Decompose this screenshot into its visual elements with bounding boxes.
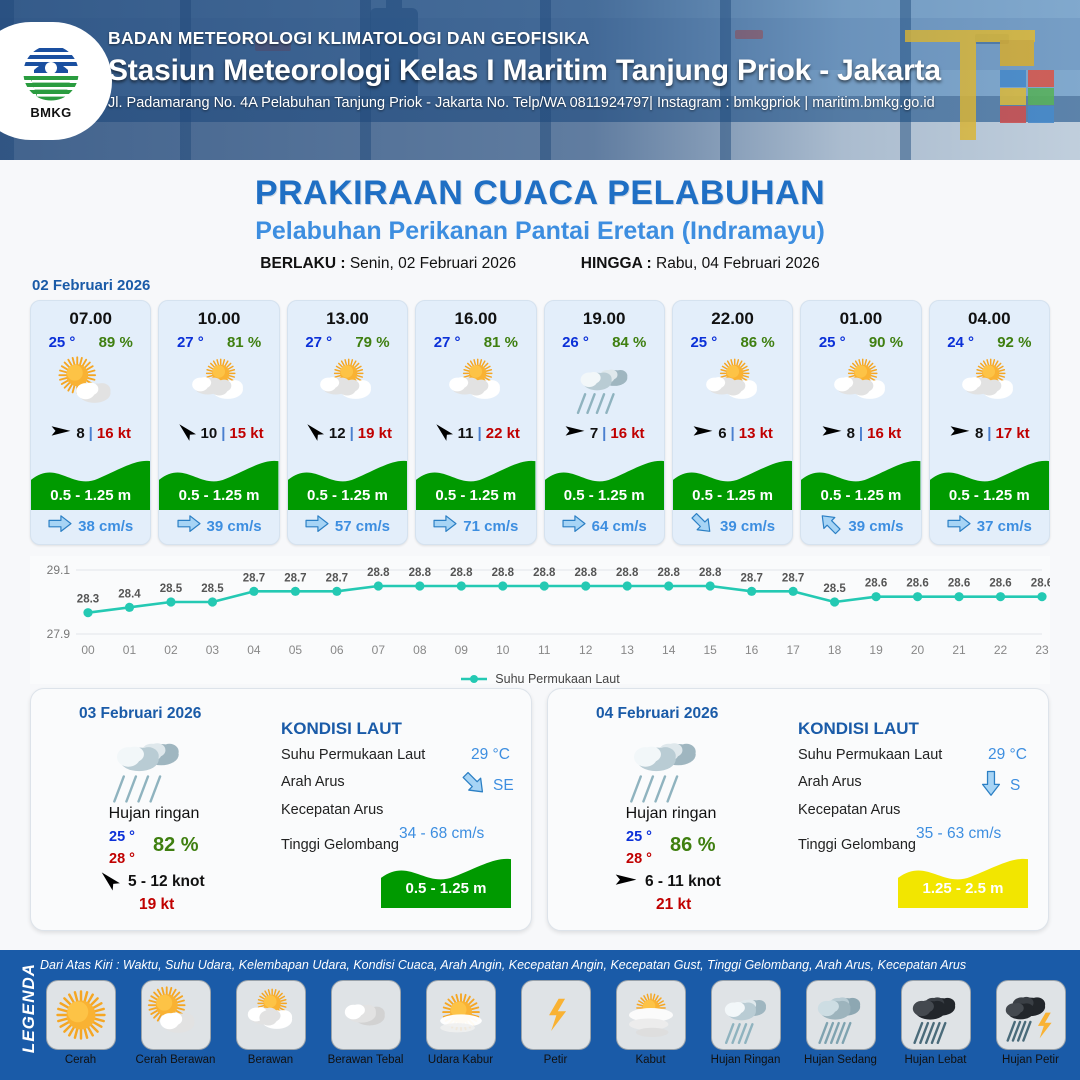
daily-date: 03 Februari 2026 xyxy=(79,705,201,723)
card-gust: 16 kt xyxy=(867,425,901,442)
svg-text:28.7: 28.7 xyxy=(740,572,762,584)
hourly-card[interactable]: 19.00 26 ° 84 % 7 | 16 kt 0.5 - 1.25 m 6… xyxy=(544,300,665,545)
current-direction-icon xyxy=(818,514,842,538)
daily-temp-min: 25 ° xyxy=(109,829,135,845)
legend-item-label: Berawan Tebal xyxy=(328,1054,404,1066)
svg-text:20: 20 xyxy=(911,643,925,657)
svg-text:15: 15 xyxy=(703,643,717,657)
separator: | xyxy=(89,425,93,442)
legend-item-label: Kabut xyxy=(635,1054,665,1066)
svg-text:28.7: 28.7 xyxy=(326,572,348,584)
card-current-speed: 57 cm/s xyxy=(335,518,390,535)
legend-item: Cerah xyxy=(36,980,125,1066)
valid-from-label: BERLAKU : xyxy=(260,255,345,272)
card-temperature: 27 ° xyxy=(434,334,461,351)
legend-item-label: Udara Kabur xyxy=(428,1054,493,1066)
svg-text:28.4: 28.4 xyxy=(118,588,141,600)
current-direction-label: Arah Arus xyxy=(798,774,862,790)
current-direction-label: Arah Arus xyxy=(281,774,345,790)
svg-text:05: 05 xyxy=(289,643,303,657)
card-wave-height: 0.5 - 1.25 m xyxy=(930,487,1049,504)
svg-text:27.9: 27.9 xyxy=(47,627,71,641)
card-wind-value: 11 xyxy=(458,425,474,442)
wind-direction-icon xyxy=(692,423,714,444)
legend-note: Dari Atas Kiri : Waktu, Suhu Udara, Kele… xyxy=(40,958,966,972)
current-direction-icon xyxy=(48,514,72,538)
card-humidity: 86 % xyxy=(740,334,774,351)
wind-direction-icon xyxy=(949,423,971,444)
card-humidity: 81 % xyxy=(484,334,518,351)
svg-text:03: 03 xyxy=(206,643,220,657)
svg-text:22: 22 xyxy=(994,643,1008,657)
separator: | xyxy=(478,425,482,442)
legend-item-label: Cerah xyxy=(65,1054,96,1066)
svg-text:12: 12 xyxy=(579,643,593,657)
svg-text:28.8: 28.8 xyxy=(533,567,556,579)
svg-text:08: 08 xyxy=(413,643,427,657)
card-temperature: 26 ° xyxy=(562,334,589,351)
svg-text:29.1: 29.1 xyxy=(47,563,71,577)
current-direction-value: S xyxy=(1010,777,1020,795)
wave-height-label: Tinggi Gelombang xyxy=(798,837,916,853)
svg-text:02: 02 xyxy=(164,643,178,657)
svg-text:28.5: 28.5 xyxy=(160,583,183,595)
legend-item: Berawan Tebal xyxy=(321,980,410,1066)
card-current-speed: 71 cm/s xyxy=(463,518,518,535)
header-text-block: BADAN METEOROLOGI KLIMATOLOGI DAN GEOFIS… xyxy=(108,28,1068,111)
card-current-speed: 39 cm/s xyxy=(848,518,903,535)
svg-text:28.7: 28.7 xyxy=(284,572,306,584)
cerah-berawan-icon xyxy=(31,354,150,416)
wind-direction-icon xyxy=(564,423,586,444)
kabut-icon xyxy=(616,980,686,1050)
title-block: PRAKIRAAN CUACA PELABUHAN Pelabuhan Peri… xyxy=(0,174,1080,273)
daily-wind-speed: 5 - 12 knot xyxy=(128,873,205,891)
hourly-card[interactable]: 22.00 25 ° 86 % 6 | 13 kt 0.5 - 1.25 m 3… xyxy=(672,300,793,545)
petir-icon xyxy=(521,980,591,1050)
svg-text:13: 13 xyxy=(621,643,635,657)
card-gust: 19 kt xyxy=(358,425,392,442)
daily-temp-max: 28 ° xyxy=(626,851,652,867)
current-speed-value: 34 - 68 cm/s xyxy=(399,825,484,843)
card-gust: 15 kt xyxy=(229,425,263,442)
wind-direction-icon xyxy=(821,423,843,444)
svg-text:28.8: 28.8 xyxy=(575,567,598,579)
page-header: BMKG BADAN METEOROLOGI KLIMATOLOGI DAN G… xyxy=(0,0,1080,160)
card-gust: 13 kt xyxy=(739,425,773,442)
legend-item-label: Hujan Petir xyxy=(1002,1054,1059,1066)
current-speed-value: 35 - 63 cm/s xyxy=(916,825,1001,843)
wind-direction-icon xyxy=(50,423,72,444)
current-direction-icon xyxy=(305,514,329,538)
page-subtitle: Pelabuhan Perikanan Pantai Eretan (Indra… xyxy=(0,217,1080,246)
legend-item-label: Petir xyxy=(544,1054,568,1066)
card-temperature: 24 ° xyxy=(947,334,974,351)
card-temperature: 25 ° xyxy=(819,334,846,351)
hujan-petir-icon xyxy=(996,980,1066,1050)
card-temperature: 27 ° xyxy=(177,334,204,351)
svg-text:09: 09 xyxy=(455,643,469,657)
chart-legend-label: Suhu Permukaan Laut xyxy=(495,672,619,686)
daily-temp-max: 28 ° xyxy=(109,851,135,867)
hujan-lebat-icon xyxy=(901,980,971,1050)
hourly-card[interactable]: 13.00 27 ° 79 % 12 | 19 kt 0.5 - 1.25 m … xyxy=(287,300,408,545)
card-wind-value: 8 xyxy=(847,425,855,442)
wave-height-label: Tinggi Gelombang xyxy=(281,837,399,853)
berawan-icon xyxy=(236,980,306,1050)
station-address: Jl. Padamarang No. 4A Pelabuhan Tanjung … xyxy=(108,95,1068,111)
card-wind-value: 8 xyxy=(76,425,84,442)
card-current-speed: 64 cm/s xyxy=(592,518,647,535)
station-name: Stasiun Meteorologi Kelas I Maritim Tanj… xyxy=(108,54,1068,88)
card-humidity: 79 % xyxy=(355,334,389,351)
daily-wave-value: 0.5 - 1.25 m xyxy=(381,880,511,897)
svg-text:11: 11 xyxy=(538,643,551,657)
legend-item: Hujan Lebat xyxy=(891,980,980,1066)
card-wave-height: 0.5 - 1.25 m xyxy=(801,487,920,504)
legend-item: Hujan Sedang xyxy=(796,980,885,1066)
legend-item: Udara Kabur xyxy=(416,980,505,1066)
card-gust: 17 kt xyxy=(995,425,1029,442)
svg-text:28.5: 28.5 xyxy=(823,583,846,595)
legend-content: Dari Atas Kiri : Waktu, Suhu Udara, Kele… xyxy=(26,950,1080,1080)
hujan-ringan-icon xyxy=(93,725,203,803)
hujan-sedang-icon xyxy=(806,980,876,1050)
card-wave-height: 0.5 - 1.25 m xyxy=(545,487,664,504)
card-wave-height: 0.5 - 1.25 m xyxy=(416,487,535,504)
svg-text:06: 06 xyxy=(330,643,344,657)
hourly-card[interactable]: 07.00 25 ° 89 % 8 | 16 kt 0.5 - 1.25 m 3… xyxy=(30,300,151,545)
card-humidity: 89 % xyxy=(99,334,133,351)
svg-text:28.7: 28.7 xyxy=(243,572,265,584)
legend-item: Hujan Petir xyxy=(986,980,1075,1066)
svg-text:28.6: 28.6 xyxy=(906,578,928,590)
card-humidity: 90 % xyxy=(869,334,903,351)
berawan-icon xyxy=(801,354,920,416)
card-time: 19.00 xyxy=(545,309,664,329)
validity-range: BERLAKU : Senin, 02 Februari 2026 HINGGA… xyxy=(0,255,1080,273)
card-time: 22.00 xyxy=(673,309,792,329)
current-direction-icon xyxy=(433,514,457,538)
bmkg-emblem-icon xyxy=(20,42,82,104)
svg-text:28.8: 28.8 xyxy=(450,567,473,579)
current-direction-icon xyxy=(177,514,201,538)
bmkg-logo-text: BMKG xyxy=(30,105,71,120)
daily-forecast-panel[interactable]: 03 Februari 2026 Hujan ringan 25 ° 28 ° … xyxy=(30,688,532,931)
card-humidity: 84 % xyxy=(612,334,646,351)
wind-direction-icon xyxy=(303,423,325,444)
berawan-icon xyxy=(673,354,792,416)
current-direction-icon xyxy=(947,514,971,538)
card-wind-value: 7 xyxy=(590,425,598,442)
legend-item: Berawan xyxy=(226,980,315,1066)
svg-text:28.8: 28.8 xyxy=(616,567,639,579)
sst-chart-svg: 29.127.928.30028.40128.50228.50328.70428… xyxy=(30,556,1050,668)
udara-kabur-icon xyxy=(426,980,496,1050)
legend-item-label: Hujan Ringan xyxy=(711,1054,781,1066)
svg-text:28.8: 28.8 xyxy=(492,567,515,579)
daily-temp-min: 25 ° xyxy=(626,829,652,845)
separator: | xyxy=(987,425,991,442)
current-direction-icon xyxy=(690,514,714,538)
card-wave-height: 0.5 - 1.25 m xyxy=(159,487,278,504)
legend-item-label: Hujan Lebat xyxy=(904,1054,966,1066)
current-direction-value: SE xyxy=(493,777,514,795)
legend-item: Kabut xyxy=(606,980,695,1066)
card-wave-height: 0.5 - 1.25 m xyxy=(673,487,792,504)
berawan-tebal-icon xyxy=(331,980,401,1050)
svg-text:28.8: 28.8 xyxy=(699,567,722,579)
card-time: 16.00 xyxy=(416,309,535,329)
separator: | xyxy=(731,425,735,442)
svg-text:21: 21 xyxy=(952,643,966,657)
card-wind-value: 10 xyxy=(201,425,218,442)
card-current-speed: 39 cm/s xyxy=(207,518,262,535)
hourly-forecast-row: 07.00 25 ° 89 % 8 | 16 kt 0.5 - 1.25 m 3… xyxy=(30,300,1050,545)
card-time: 13.00 xyxy=(288,309,407,329)
daily-condition: Hujan ringan xyxy=(566,805,776,823)
sst-label: Suhu Permukaan Laut xyxy=(798,747,942,763)
hourly-date-label: 02 Februari 2026 xyxy=(32,277,150,294)
sea-conditions-title: KONDISI LAUT xyxy=(798,719,919,739)
svg-text:28.7: 28.7 xyxy=(782,572,804,584)
card-humidity: 92 % xyxy=(997,334,1031,351)
berawan-icon xyxy=(930,354,1049,416)
daily-humidity: 86 % xyxy=(670,834,716,857)
separator: | xyxy=(859,425,863,442)
card-wave-height: 0.5 - 1.25 m xyxy=(31,487,150,504)
legend-item-label: Hujan Sedang xyxy=(804,1054,877,1066)
card-current-speed: 38 cm/s xyxy=(78,518,133,535)
daily-forecast-panel[interactable]: 04 Februari 2026 Hujan ringan 25 ° 28 ° … xyxy=(547,688,1049,931)
daily-date: 04 Februari 2026 xyxy=(596,705,718,723)
chart-legend-marker-icon xyxy=(460,673,488,685)
card-wind-value: 8 xyxy=(975,425,983,442)
chart-legend: Suhu Permukaan Laut xyxy=(30,672,1050,686)
berawan-icon xyxy=(416,354,535,416)
daily-forecast-row: 03 Februari 2026 Hujan ringan 25 ° 28 ° … xyxy=(30,688,1050,931)
valid-until-label: HINGGA : xyxy=(581,255,652,272)
page-title: PRAKIRAAN CUACA PELABUHAN xyxy=(0,174,1080,213)
current-direction-value-group: SE xyxy=(461,773,514,799)
current-speed-label: Kecepatan Arus xyxy=(281,802,383,818)
daily-gust: 21 kt xyxy=(656,896,691,914)
card-humidity: 81 % xyxy=(227,334,261,351)
svg-text:23: 23 xyxy=(1035,643,1049,657)
hourly-card[interactable]: 01.00 25 ° 90 % 8 | 16 kt 0.5 - 1.25 m 3… xyxy=(800,300,921,545)
berawan-icon xyxy=(288,354,407,416)
sst-value: 29 °C xyxy=(471,746,510,764)
separator: | xyxy=(350,425,354,442)
daily-condition: Hujan ringan xyxy=(49,805,259,823)
hujan-ringan-icon xyxy=(545,354,664,416)
sst-chart: 29.127.928.30028.40128.50228.50328.70428… xyxy=(30,556,1050,684)
sea-conditions-title: KONDISI LAUT xyxy=(281,719,402,739)
daily-humidity: 82 % xyxy=(153,834,199,857)
svg-text:28.5: 28.5 xyxy=(201,583,224,595)
cerah-berawan-icon xyxy=(141,980,211,1050)
sst-value: 29 °C xyxy=(988,746,1027,764)
hujan-ringan-icon xyxy=(610,725,720,803)
legend-item: Cerah Berawan xyxy=(131,980,220,1066)
current-direction-icon xyxy=(562,514,586,538)
svg-text:18: 18 xyxy=(828,643,842,657)
svg-text:28.6: 28.6 xyxy=(948,578,970,590)
card-wave-height: 0.5 - 1.25 m xyxy=(288,487,407,504)
separator: | xyxy=(221,425,225,442)
current-speed-label: Kecepatan Arus xyxy=(798,802,900,818)
svg-text:28.6: 28.6 xyxy=(989,578,1011,590)
wind-direction-icon xyxy=(432,423,454,444)
legend-item: Petir xyxy=(511,980,600,1066)
daily-gust: 19 kt xyxy=(139,896,174,914)
valid-until-value: Rabu, 04 Februari 2026 xyxy=(656,255,820,272)
card-wind-value: 6 xyxy=(718,425,726,442)
hourly-card[interactable]: 04.00 24 ° 92 % 8 | 17 kt 0.5 - 1.25 m 3… xyxy=(929,300,1050,545)
wind-direction-icon xyxy=(614,871,638,893)
cerah-icon xyxy=(46,980,116,1050)
sst-label: Suhu Permukaan Laut xyxy=(281,747,425,763)
legend-item: Hujan Ringan xyxy=(701,980,790,1066)
legend-item-label: Cerah Berawan xyxy=(136,1054,216,1066)
daily-wind-speed: 6 - 11 knot xyxy=(645,873,721,891)
svg-text:19: 19 xyxy=(869,643,883,657)
svg-text:10: 10 xyxy=(496,643,510,657)
valid-from-value: Senin, 02 Februari 2026 xyxy=(350,255,516,272)
legend-sidebar: LEGENDA xyxy=(0,950,26,1080)
wind-direction-icon xyxy=(97,871,121,893)
berawan-icon xyxy=(159,354,278,416)
svg-text:17: 17 xyxy=(786,643,800,657)
svg-text:00: 00 xyxy=(81,643,95,657)
card-gust: 16 kt xyxy=(610,425,644,442)
svg-text:28.6: 28.6 xyxy=(1031,578,1050,590)
separator: | xyxy=(602,425,606,442)
card-wind-value: 12 xyxy=(329,425,346,442)
legend-item-label: Berawan xyxy=(248,1054,293,1066)
svg-text:14: 14 xyxy=(662,643,676,657)
card-current-speed: 39 cm/s xyxy=(720,518,775,535)
svg-text:28.8: 28.8 xyxy=(367,567,390,579)
current-direction-icon xyxy=(978,773,1004,799)
hourly-card[interactable]: 16.00 27 ° 81 % 11 | 22 kt 0.5 - 1.25 m … xyxy=(415,300,536,545)
svg-text:16: 16 xyxy=(745,643,759,657)
svg-text:07: 07 xyxy=(372,643,386,657)
svg-text:01: 01 xyxy=(123,643,137,657)
card-current-speed: 37 cm/s xyxy=(977,518,1032,535)
card-temperature: 27 ° xyxy=(305,334,332,351)
legend-items: Cerah Cerah Berawan Berawan Berawan Teba… xyxy=(36,980,1075,1066)
card-time: 10.00 xyxy=(159,309,278,329)
card-time: 01.00 xyxy=(801,309,920,329)
card-temperature: 25 ° xyxy=(49,334,76,351)
wind-direction-icon xyxy=(175,423,197,444)
svg-text:28.6: 28.6 xyxy=(865,578,887,590)
current-direction-icon xyxy=(461,773,487,799)
daily-wave-value: 1.25 - 2.5 m xyxy=(898,880,1028,897)
svg-text:28.8: 28.8 xyxy=(658,567,681,579)
hujan-ringan-icon xyxy=(711,980,781,1050)
current-direction-value-group: S xyxy=(978,773,1020,799)
svg-text:28.3: 28.3 xyxy=(77,594,99,606)
agency-name: BADAN METEOROLOGI KLIMATOLOGI DAN GEOFIS… xyxy=(108,28,1068,49)
hourly-card[interactable]: 10.00 27 ° 81 % 10 | 15 kt 0.5 - 1.25 m … xyxy=(158,300,279,545)
card-time: 07.00 xyxy=(31,309,150,329)
svg-text:04: 04 xyxy=(247,643,261,657)
card-time: 04.00 xyxy=(930,309,1049,329)
legend-section: LEGENDA Dari Atas Kiri : Waktu, Suhu Uda… xyxy=(0,950,1080,1080)
svg-text:28.8: 28.8 xyxy=(409,567,432,579)
card-gust: 22 kt xyxy=(486,425,520,442)
card-gust: 16 kt xyxy=(97,425,131,442)
card-temperature: 25 ° xyxy=(690,334,717,351)
